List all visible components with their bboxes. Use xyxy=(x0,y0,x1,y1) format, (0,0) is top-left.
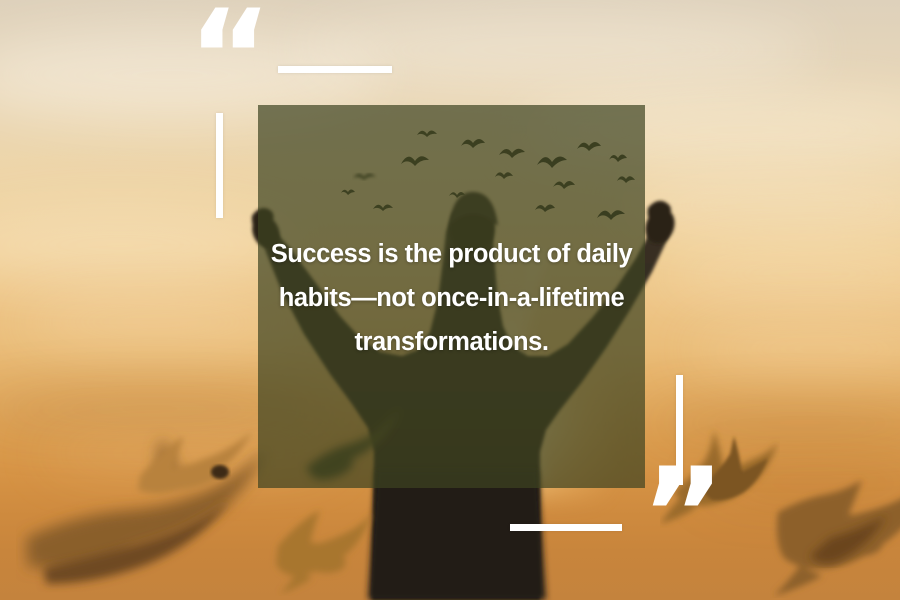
opening-quote-icon: “ xyxy=(188,0,272,122)
left-vertical-bar xyxy=(216,113,223,218)
closing-quote-icon: ” xyxy=(641,452,725,580)
quote-text: Success is the product of daily habits—n… xyxy=(258,232,645,364)
quote-graphic-canvas: Success is the product of daily habits—n… xyxy=(0,0,900,600)
top-horizontal-bar xyxy=(278,66,392,73)
bottom-horizontal-bar xyxy=(510,524,622,531)
